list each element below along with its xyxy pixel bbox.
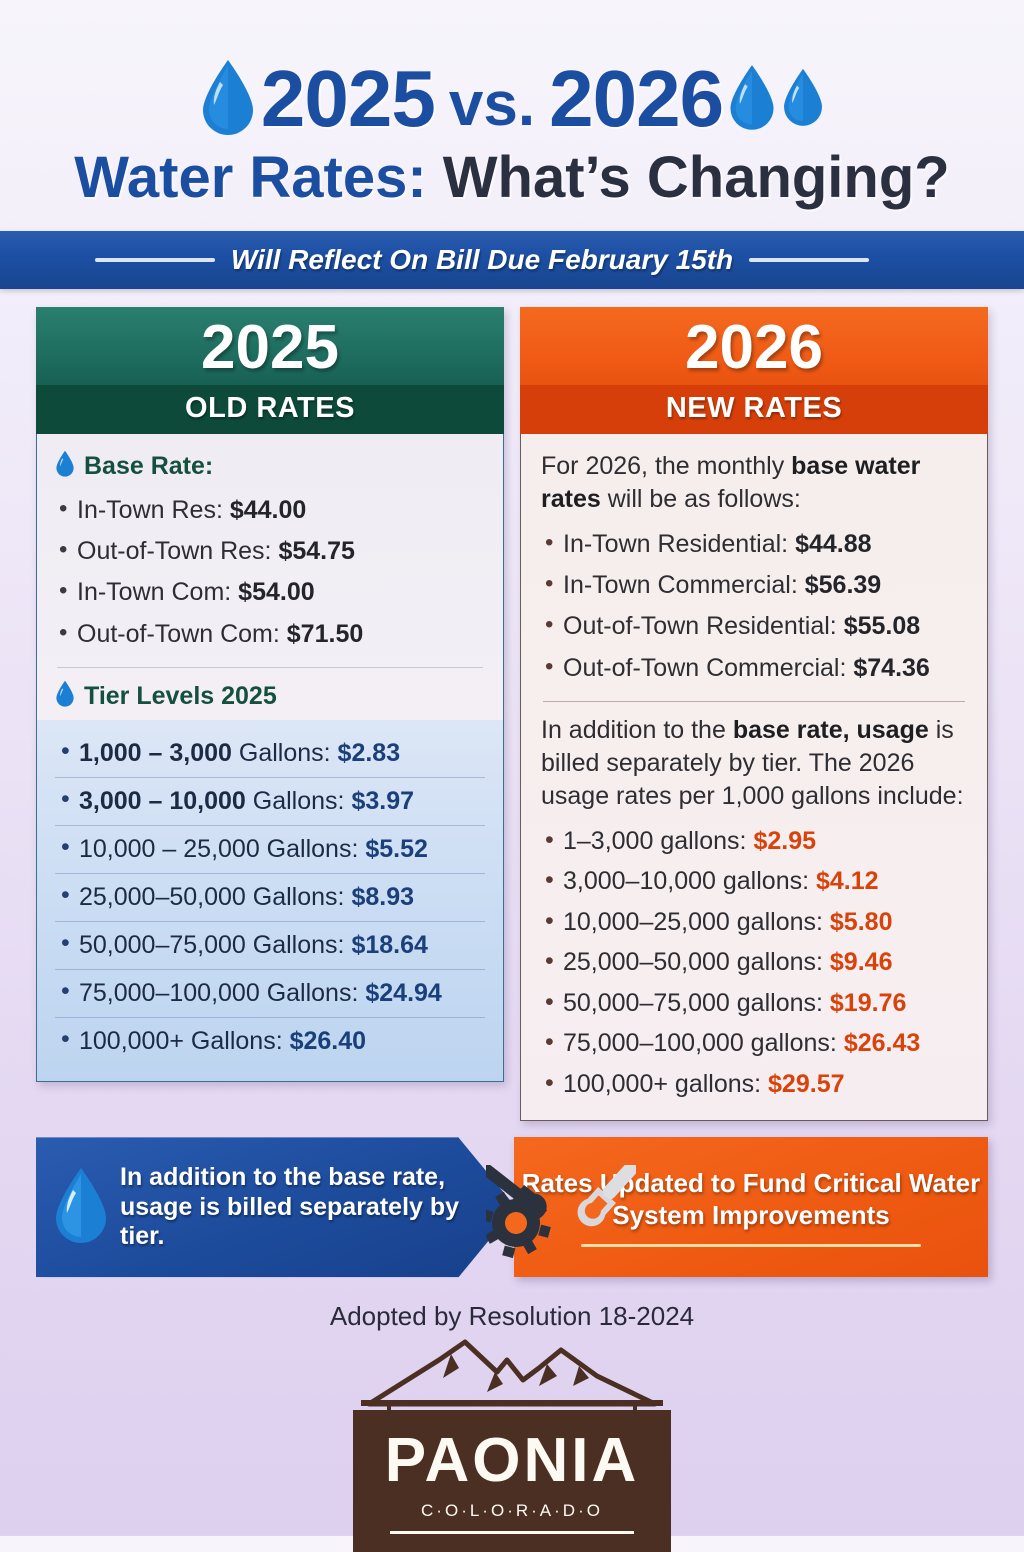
rate-comparison-columns: 2025 OLD RATES Base Rate: In-Town Res: $…	[0, 289, 1024, 1122]
adopted-resolution-text: Adopted by Resolution 18-2024	[0, 1301, 1024, 1332]
column-2025-year: 2025	[36, 307, 504, 385]
rate-value: $55.08	[844, 612, 920, 640]
tier-value: $19.76	[830, 989, 906, 1017]
tier-unit: Gallons:	[191, 1027, 290, 1055]
water-drop-icon	[55, 680, 75, 714]
tier-list-2026: 1–3,000 gallons: $2.953,000–10,000 gallo…	[541, 821, 967, 1105]
logo-state: C·O·L·O·R·A·D·O	[421, 1501, 603, 1521]
rate-value: $44.88	[795, 530, 871, 558]
tier-range: 10,000–25,000 gallons:	[563, 908, 830, 936]
tier-range: 75,000–100,000 gallons:	[563, 1029, 844, 1057]
divider	[543, 701, 965, 702]
tier-unit: Gallons:	[267, 979, 366, 1007]
column-2025-label: OLD RATES	[36, 385, 504, 434]
tier-row: 1–3,000 gallons: $2.95	[541, 821, 967, 862]
water-drop-icon	[55, 450, 75, 484]
tier-unit: Gallons:	[239, 739, 338, 767]
tier-value: $5.80	[830, 908, 893, 936]
rate-value: $54.75	[278, 537, 354, 565]
usage-pre: In addition to the	[541, 716, 733, 744]
logo-sign-board: PAONIA C·O·L·O·R·A·D·O	[353, 1410, 671, 1552]
column-2026-body: For 2026, the monthly base water rates w…	[520, 434, 988, 1122]
tier-heading-2025: Tier Levels 2025	[55, 680, 485, 714]
tier-list-2025: 1,000 – 3,000 Gallons: $2.833,000 – 10,0…	[37, 720, 503, 1081]
rate-label: Out-of-Town Com:	[77, 620, 287, 648]
subtitle-blue: Water Rates:	[74, 145, 426, 210]
title-year-2025: 2025	[261, 59, 435, 139]
base-rate-list-2026: In-Town Residential: $44.88In-Town Comme…	[541, 524, 967, 689]
rate-label: In-Town Residential:	[563, 530, 795, 558]
tier-range: 50,000–75,000	[79, 931, 253, 959]
tier-range: 50,000–75,000 gallons:	[563, 989, 830, 1017]
tier-value: $8.93	[351, 883, 414, 911]
title-row: 2025 vs. 2026	[0, 58, 1024, 140]
tier-row: 50,000–75,000 gallons: $19.76	[541, 983, 967, 1024]
due-date-text: Will Reflect On Bill Due February 15th	[231, 244, 733, 276]
rate-list-item: In-Town Res: $44.00	[55, 490, 485, 531]
intro-paragraph-2026: For 2026, the monthly base water rates w…	[541, 450, 967, 516]
page-header: 2025 vs. 2026 Water Rates: What’s Changi…	[0, 0, 1024, 209]
tier-row: 10,000 – 25,000 Gallons: $5.52	[55, 825, 485, 873]
bottom-banners: In addition to the base rate, usage is b…	[36, 1137, 988, 1287]
tier-unit: Gallons:	[267, 835, 366, 863]
tier-row: 10,000–25,000 gallons: $5.80	[541, 902, 967, 943]
title-year-2026: 2026	[549, 59, 723, 139]
banner-usage-text: In addition to the base rate, usage is b…	[120, 1163, 490, 1252]
tier-unit: Gallons:	[253, 931, 352, 959]
mountain-icon	[347, 1338, 677, 1412]
tier-value: $9.46	[830, 948, 893, 976]
logo-name: PAONIA	[385, 1432, 640, 1491]
intro-pre: For 2026, the monthly	[541, 452, 791, 480]
tier-value: $3.97	[351, 787, 414, 815]
base-rate-list-2025: In-Town Res: $44.00Out-of-Town Res: $54.…	[55, 490, 485, 655]
page-subtitle: Water Rates: What’s Changing?	[0, 148, 1024, 209]
tier-range: 3,000 – 10,000	[79, 787, 253, 815]
tier-row: 75,000–100,000 Gallons: $24.94	[55, 969, 485, 1017]
tier-value: $4.12	[816, 867, 879, 895]
subtitle-dark: What’s Changing?	[443, 145, 950, 210]
rate-value: $44.00	[230, 496, 306, 524]
rate-list-item: Out-of-Town Res: $54.75	[55, 531, 485, 572]
tier-value: $26.40	[290, 1027, 366, 1055]
logo-underline	[390, 1531, 634, 1534]
column-2025: 2025 OLD RATES Base Rate: In-Town Res: $…	[36, 307, 504, 1082]
tier-range: 100,000+ gallons:	[563, 1070, 768, 1098]
wrench-gear-icon	[486, 1165, 636, 1285]
rate-list-item: In-Town Commercial: $56.39	[541, 565, 967, 606]
column-2026: 2026 NEW RATES For 2026, the monthly bas…	[520, 307, 988, 1122]
base-rate-heading-2025: Base Rate:	[55, 450, 485, 484]
base-rate-title-text: Base Rate:	[84, 452, 213, 481]
rate-label: Out-of-Town Res:	[77, 537, 278, 565]
tier-value: $29.57	[768, 1070, 844, 1098]
tier-unit: Gallons:	[253, 883, 352, 911]
water-drop-icon	[727, 61, 777, 137]
rate-list-item: Out-of-Town Residential: $55.08	[541, 606, 967, 647]
column-2026-year: 2026	[520, 307, 988, 385]
rate-value: $71.50	[287, 620, 363, 648]
page-footer: Adopted by Resolution 18-2024 PAONIA C·O…	[0, 1301, 1024, 1552]
tier-value: $2.95	[753, 827, 816, 855]
tier-unit: Gallons:	[253, 787, 352, 815]
column-2026-label: NEW RATES	[520, 385, 988, 434]
tier-row: 50,000–75,000 Gallons: $18.64	[55, 921, 485, 969]
mountain-sign-logo: PAONIA C·O·L·O·R·A·D·O	[0, 1338, 1024, 1552]
tier-title-text: Tier Levels 2025	[84, 682, 277, 711]
usage-bold: base rate, usage	[733, 716, 929, 744]
tier-value: $26.43	[844, 1029, 920, 1057]
tier-value: $24.94	[365, 979, 441, 1007]
tier-range: 100,000+	[79, 1027, 191, 1055]
tier-range: 10,000 – 25,000	[79, 835, 267, 863]
water-drop-icon	[199, 58, 257, 140]
intro-post: will be as follows:	[601, 485, 801, 513]
tier-range: 25,000–50,000 gallons:	[563, 948, 830, 976]
banner-dash-left	[95, 258, 215, 262]
tier-row: 3,000–10,000 gallons: $4.12	[541, 861, 967, 902]
banner-dash-right	[749, 258, 869, 262]
column-2025-body: Base Rate: In-Town Res: $44.00Out-of-Tow…	[36, 434, 504, 1082]
rate-value: $56.39	[805, 571, 881, 599]
water-drop-icon	[781, 65, 825, 133]
tier-range: 75,000–100,000	[79, 979, 267, 1007]
usage-paragraph-2026: In addition to the base rate, usage is b…	[541, 714, 967, 813]
rate-list-item: Out-of-Town Commercial: $74.36	[541, 648, 967, 689]
tier-row: 100,000+ gallons: $29.57	[541, 1064, 967, 1105]
rate-label: In-Town Com:	[77, 578, 238, 606]
tier-row: 75,000–100,000 gallons: $26.43	[541, 1023, 967, 1064]
tier-range: 1,000 – 3,000	[79, 739, 239, 767]
water-drop-icon	[52, 1165, 110, 1250]
rate-label: Out-of-Town Residential:	[563, 612, 844, 640]
tier-row: 1,000 – 3,000 Gallons: $2.83	[55, 730, 485, 777]
banner-usage-note: In addition to the base rate, usage is b…	[36, 1137, 516, 1277]
tier-row: 100,000+ Gallons: $26.40	[55, 1017, 485, 1065]
tier-value: $2.83	[338, 739, 401, 767]
rate-label: In-Town Commercial:	[563, 571, 805, 599]
tier-value: $18.64	[351, 931, 427, 959]
rate-list-item: In-Town Residential: $44.88	[541, 524, 967, 565]
tier-range: 1–3,000 gallons:	[563, 827, 753, 855]
rate-label: In-Town Res:	[77, 496, 230, 524]
tier-value: $5.52	[365, 835, 428, 863]
due-date-banner: Will Reflect On Bill Due February 15th	[0, 231, 1024, 289]
title-vs: vs.	[439, 74, 545, 136]
tier-range: 3,000–10,000 gallons:	[563, 867, 816, 895]
tier-row: 3,000 – 10,000 Gallons: $3.97	[55, 777, 485, 825]
rate-list-item: Out-of-Town Com: $71.50	[55, 614, 485, 655]
tier-row: 25,000–50,000 gallons: $9.46	[541, 942, 967, 983]
tier-row: 25,000–50,000 Gallons: $8.93	[55, 873, 485, 921]
rate-list-item: In-Town Com: $54.00	[55, 572, 485, 613]
rate-label: Out-of-Town Commercial:	[563, 654, 853, 682]
tier-range: 25,000–50,000	[79, 883, 253, 911]
rate-value: $54.00	[238, 578, 314, 606]
divider	[57, 667, 483, 668]
rate-value: $74.36	[853, 654, 929, 682]
